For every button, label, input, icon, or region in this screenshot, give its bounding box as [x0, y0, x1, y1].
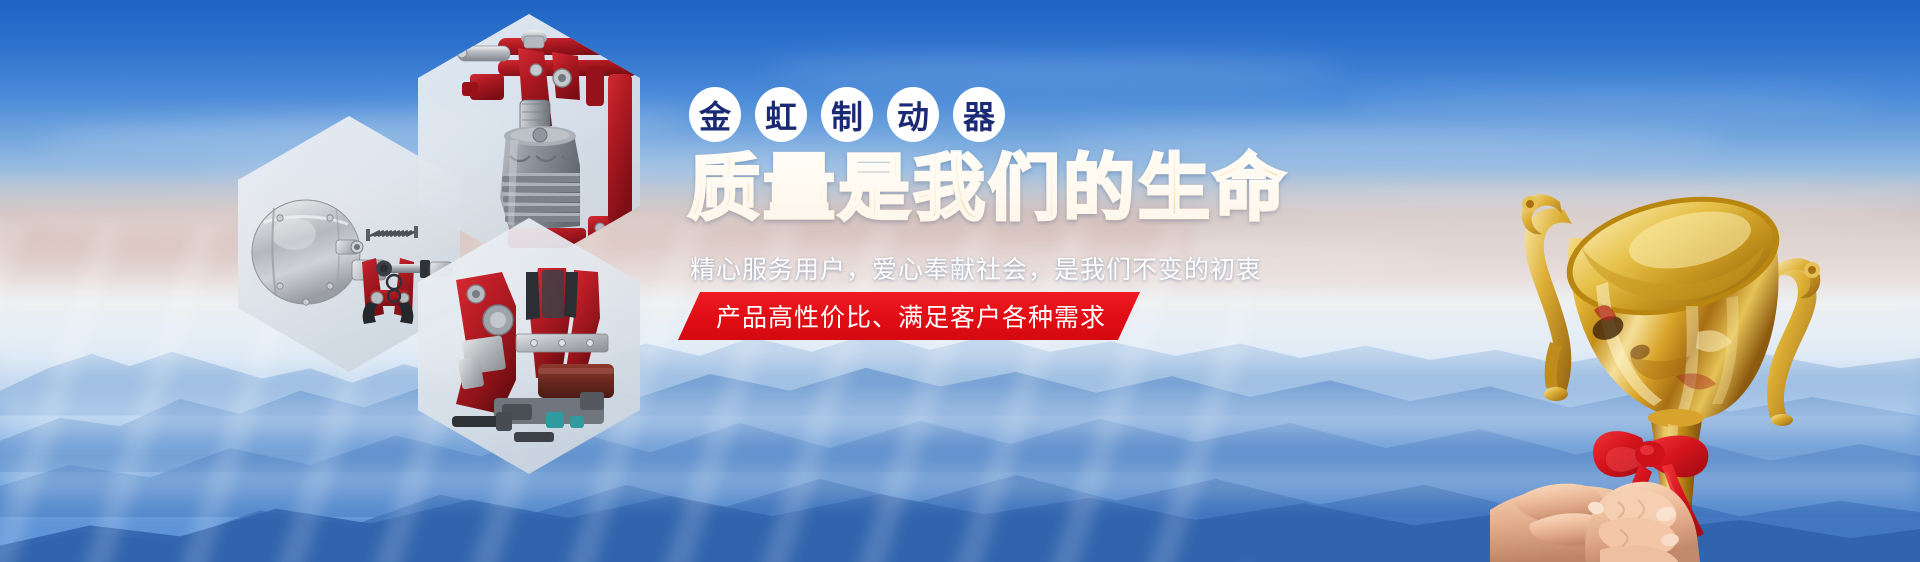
- subtitle: 精心服务用户，爱心奉献社会，是我们不变的初衷: [690, 250, 1262, 286]
- brand-char-badge: 金: [688, 88, 742, 142]
- tagline-text: 产品高性价比、满足客户各种需求: [716, 298, 1106, 334]
- trophy-illustration: [1490, 142, 1920, 562]
- brand-char-badge: 虹: [754, 88, 808, 142]
- brand-char: 金: [699, 92, 731, 138]
- brand-char: 虹: [765, 92, 797, 138]
- brand-char-badge: 动: [886, 88, 940, 142]
- trophy-handle-left: [1522, 194, 1572, 401]
- product-image-hydraulic-caliper-disc-brake: [430, 246, 630, 456]
- brand-char: 器: [963, 92, 995, 138]
- trophy-and-hands: [1490, 142, 1920, 562]
- trophy-bowl: [1556, 179, 1791, 420]
- brand-char-badge: 器: [952, 88, 1006, 142]
- product-image-electrohydraulic-thruster-brake: [440, 30, 640, 256]
- brand-name: 金 虹 制 动 器: [688, 88, 1006, 142]
- brand-char: 制: [831, 92, 863, 138]
- promotional-banner: 金 虹 制 动 器 质量是我们的生命 质量是我们的生命 精心服务用户，爱心奉献社…: [0, 0, 1920, 562]
- hands: [1490, 482, 1700, 562]
- banner-copy: 金 虹 制 动 器 质量是我们的生命 质量是我们的生命 精心服务用户，爱心奉献社…: [672, 0, 1492, 562]
- headline: 质量是我们的生命: [688, 152, 1288, 224]
- brand-char-badge: 制: [820, 88, 874, 142]
- product-hexagon-cluster: [222, 6, 642, 456]
- brand-char: 动: [897, 92, 929, 138]
- tagline-ribbon: 产品高性价比、满足客户各种需求: [678, 292, 1140, 340]
